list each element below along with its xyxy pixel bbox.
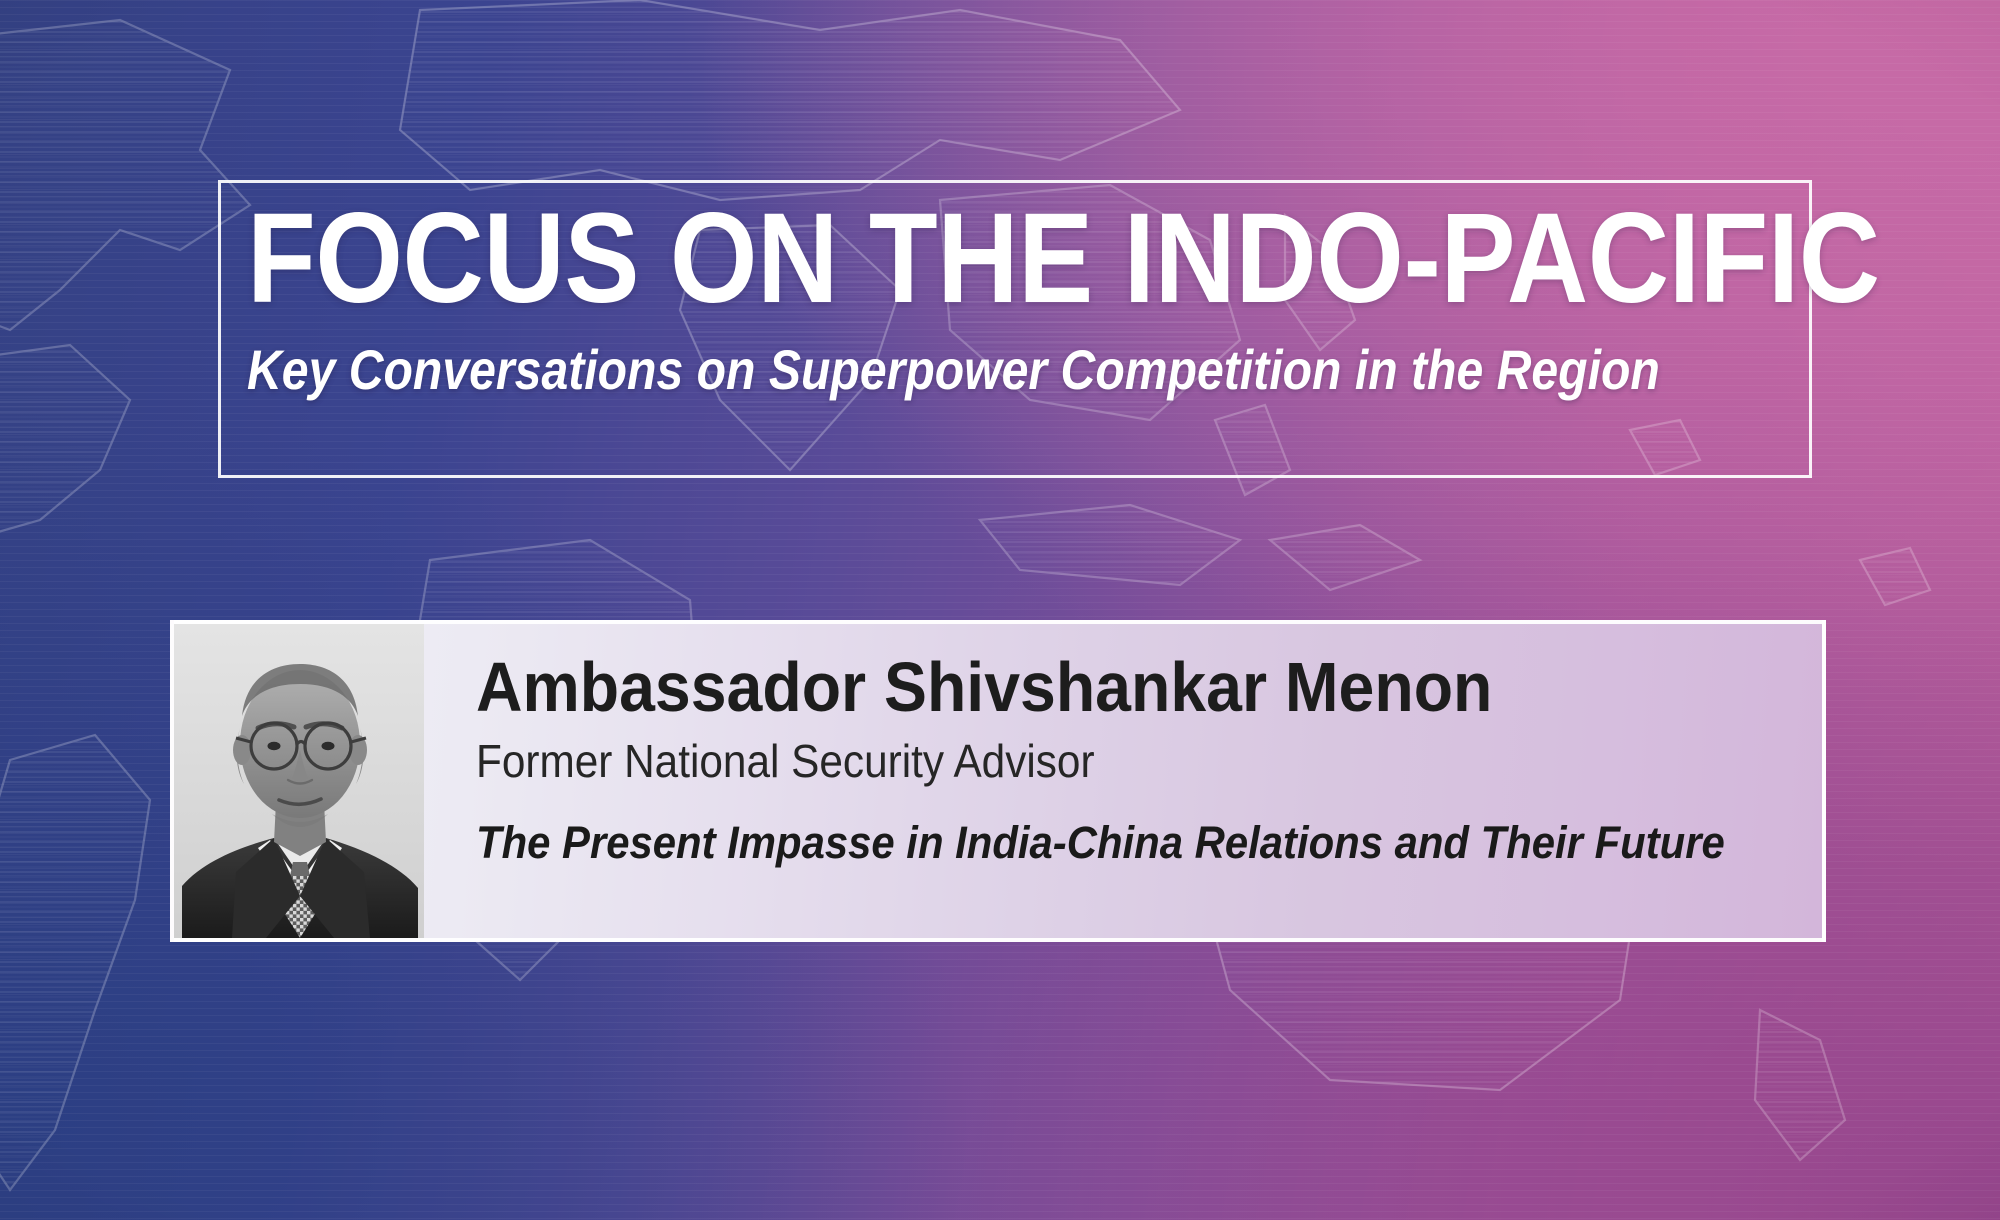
- event-promo-graphic: FOCUS ON THE INDO-PACIFIC Key Conversati…: [0, 0, 2000, 1220]
- title-frame: FOCUS ON THE INDO-PACIFIC Key Conversati…: [218, 180, 1812, 478]
- page-subtitle: Key Conversations on Superpower Competit…: [247, 339, 1568, 401]
- page-title: FOCUS ON THE INDO-PACIFIC: [247, 193, 1599, 325]
- speaker-portrait: [174, 624, 424, 938]
- speaker-details: Ambassador Shivshankar Menon Former Nati…: [424, 624, 1822, 938]
- speaker-card: Ambassador Shivshankar Menon Former Nati…: [170, 620, 1826, 942]
- speaker-talk-title: The Present Impasse in India-China Relat…: [476, 818, 1728, 868]
- speaker-role: Former National Security Advisor: [476, 734, 1714, 788]
- speaker-name: Ambassador Shivshankar Menon: [476, 652, 1714, 722]
